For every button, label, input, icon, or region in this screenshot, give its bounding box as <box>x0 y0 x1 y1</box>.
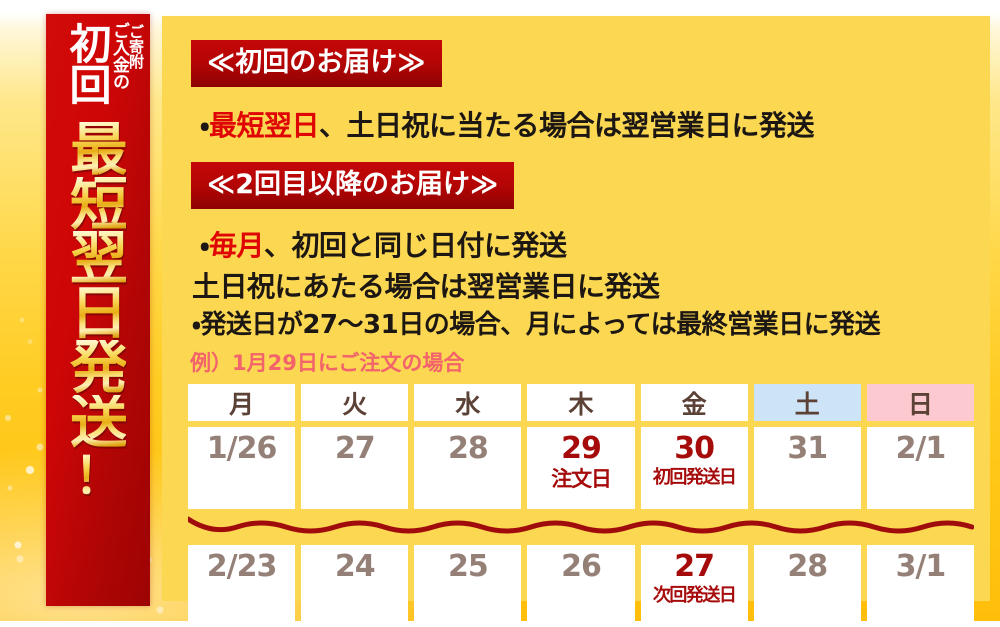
calendar-day-cell: 26 <box>527 545 634 627</box>
headline-char-jitsu: 日 <box>70 286 126 341</box>
banner-headline: 最 短 翌 日 発 送 ！ <box>46 120 150 501</box>
calendar-weekday-weekday-3: 木 <box>527 384 634 421</box>
headline-exclamation: ！ <box>74 451 122 501</box>
bullet-rest: 、初回と同じ日付に発送 <box>264 229 567 262</box>
calendar-day-cell: 3/1 <box>867 545 974 627</box>
calendar-day-cell: 25 <box>414 545 521 627</box>
calendar-day-number: 27 <box>674 552 714 582</box>
calendar-day-note: 注文日 <box>551 469 610 490</box>
calendar-day-number: 1/26 <box>207 434 277 464</box>
example-case-label: 例）1月29日にご注文の場合 <box>190 353 464 374</box>
bullet-marker: ・ <box>200 229 209 262</box>
calendar-day-cell: 2/1 <box>867 427 974 509</box>
calendar-week-row-february: 2/2324252627次回発送日283/1 <box>188 545 974 627</box>
recurring-bullet-monthly: ・毎月、初回と同じ日付に発送 <box>200 232 567 260</box>
calendar-day-cell: 30初回発送日 <box>641 427 748 509</box>
calendar-day-number: 28 <box>787 552 827 582</box>
section-badge-recurring-delivery: ≪2回目以降のお届け≫ <box>191 162 514 209</box>
banner-kicker-donation: ご寄附 <box>128 22 143 69</box>
calendar-day-number: 31 <box>787 434 827 464</box>
calendar-day-note: 初回発送日 <box>653 469 736 487</box>
headline-char-tan: 短 <box>70 177 126 232</box>
calendar-weekday-header: 月火水木金土日 <box>188 384 974 421</box>
headline-char-yoku: 翌 <box>70 231 126 286</box>
section-badge-first-delivery: ≪初回のお届け≫ <box>191 40 442 87</box>
calendar-day-number: 29 <box>561 434 601 464</box>
headline-char-sou: 送 <box>70 395 126 450</box>
calendar-day-number: 2/23 <box>207 552 277 582</box>
headline-char-hatsu: 発 <box>70 340 126 395</box>
headline-char-sai: 最 <box>70 122 126 177</box>
recurring-weekend-note: 土日祝にあたる場合は翌営業日に発送 <box>192 273 660 301</box>
left-vertical-banner: ご寄附 ご入金の 初回 最 短 翌 日 発 送 ！ <box>46 14 150 606</box>
calendar-wave-divider <box>188 511 974 539</box>
calendar-weekday-weekday-1: 火 <box>301 384 408 421</box>
wave-divider-icon <box>188 511 974 539</box>
calendar-weekday-sunday-6: 日 <box>867 384 974 421</box>
calendar-day-cell: 29注文日 <box>527 427 634 509</box>
calendar-day-note: 次回発送日 <box>653 587 736 605</box>
calendar-day-number: 27 <box>335 434 375 464</box>
first-delivery-bullet: ・最短翌日、土日祝に当たる場合は翌営業日に発送 <box>200 112 814 140</box>
calendar-weekday-weekday-0: 月 <box>188 384 295 421</box>
bullet-highlight: 毎月 <box>209 229 264 262</box>
example-calendar: 月火水木金土日 1/26272829注文日30初回発送日312/1 2/2324… <box>188 384 974 627</box>
recurring-month-end-note: ・発送日が27〜31日の場合、月によっては最終営業日に発送 <box>192 312 880 338</box>
banner-kicker-group: ご寄附 ご入金の 初回 <box>46 14 150 120</box>
calendar-day-cell: 31 <box>754 427 861 509</box>
calendar-day-number: 25 <box>448 552 488 582</box>
bullet-highlight: 最短翌日 <box>209 109 319 142</box>
calendar-weekday-weekday-2: 水 <box>414 384 521 421</box>
calendar-day-cell: 1/26 <box>188 427 295 509</box>
bullet-marker: ・ <box>200 109 209 142</box>
calendar-day-number: 3/1 <box>896 552 946 582</box>
calendar-day-cell: 28 <box>754 545 861 627</box>
calendar-weekday-saturday-5: 土 <box>754 384 861 421</box>
calendar-week-row-january: 1/26272829注文日30初回発送日312/1 <box>188 427 974 509</box>
calendar-day-number: 30 <box>674 434 714 464</box>
calendar-day-number: 24 <box>335 552 375 582</box>
content-panel: ≪初回のお届け≫ ・最短翌日、土日祝に当たる場合は翌営業日に発送 ≪2回目以降の… <box>162 16 990 601</box>
calendar-day-cell: 27 <box>301 427 408 509</box>
calendar-day-number: 26 <box>561 552 601 582</box>
calendar-day-number: 28 <box>448 434 488 464</box>
calendar-day-cell: 2/23 <box>188 545 295 627</box>
promo-banner: ご寄附 ご入金の 初回 最 短 翌 日 発 送 ！ ≪初回のお届け≫ ・最短翌日… <box>0 0 1000 621</box>
calendar-day-cell: 27次回発送日 <box>641 545 748 627</box>
calendar-day-cell: 28 <box>414 427 521 509</box>
calendar-weekday-weekday-4: 金 <box>641 384 748 421</box>
banner-kicker-payment: ご入金の <box>110 22 127 90</box>
calendar-day-cell: 24 <box>301 545 408 627</box>
bullet-rest: 、土日祝に当たる場合は翌営業日に発送 <box>319 109 814 142</box>
calendar-day-number: 2/1 <box>896 434 946 464</box>
banner-first-time-label: 初回 <box>65 22 108 104</box>
